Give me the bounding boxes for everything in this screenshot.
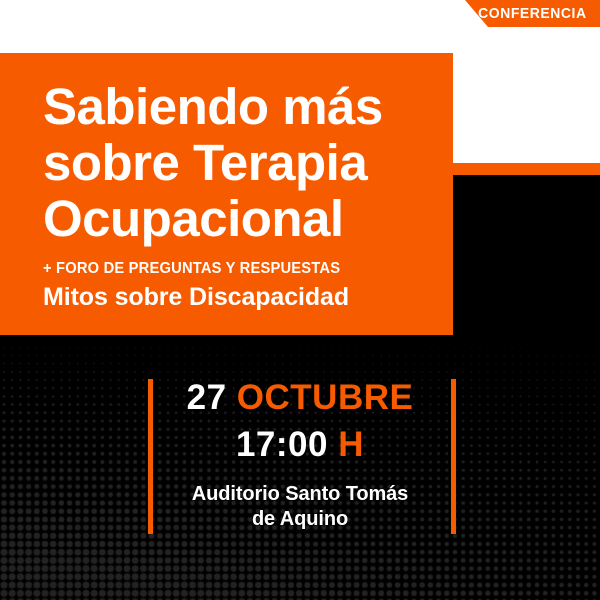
event-date: 27 OCTUBRE xyxy=(0,378,600,418)
event-venue: Auditorio Santo Tomás de Aquino xyxy=(0,482,600,532)
page-title: Sabiendo más sobre Terapia Ocupacional xyxy=(43,79,443,247)
conference-poster: CONFERENCIA Sabiendo más sobre Terapia O… xyxy=(0,0,600,600)
halftone-background xyxy=(0,335,600,600)
event-time: 17:00 H xyxy=(0,425,600,465)
subtitle-text: Mitos sobre Discapacidad xyxy=(43,283,349,312)
event-hour: 17:00 xyxy=(236,425,328,464)
venue-line-1: Auditorio Santo Tomás xyxy=(0,482,600,507)
event-day: 27 xyxy=(187,378,227,417)
title-line-3: Ocupacional xyxy=(43,191,443,247)
title-line-1: Sabiendo más xyxy=(43,79,443,135)
orange-accent-strip xyxy=(453,163,600,175)
kicker-text: + FORO DE PREGUNTAS Y RESPUESTAS xyxy=(43,260,340,278)
title-line-2: sobre Terapia xyxy=(43,135,443,191)
event-month: OCTUBRE xyxy=(237,378,414,417)
venue-line-2: de Aquino xyxy=(0,507,600,532)
event-hour-suffix: H xyxy=(338,425,364,464)
ribbon-label: CONFERENCIA xyxy=(479,5,587,22)
